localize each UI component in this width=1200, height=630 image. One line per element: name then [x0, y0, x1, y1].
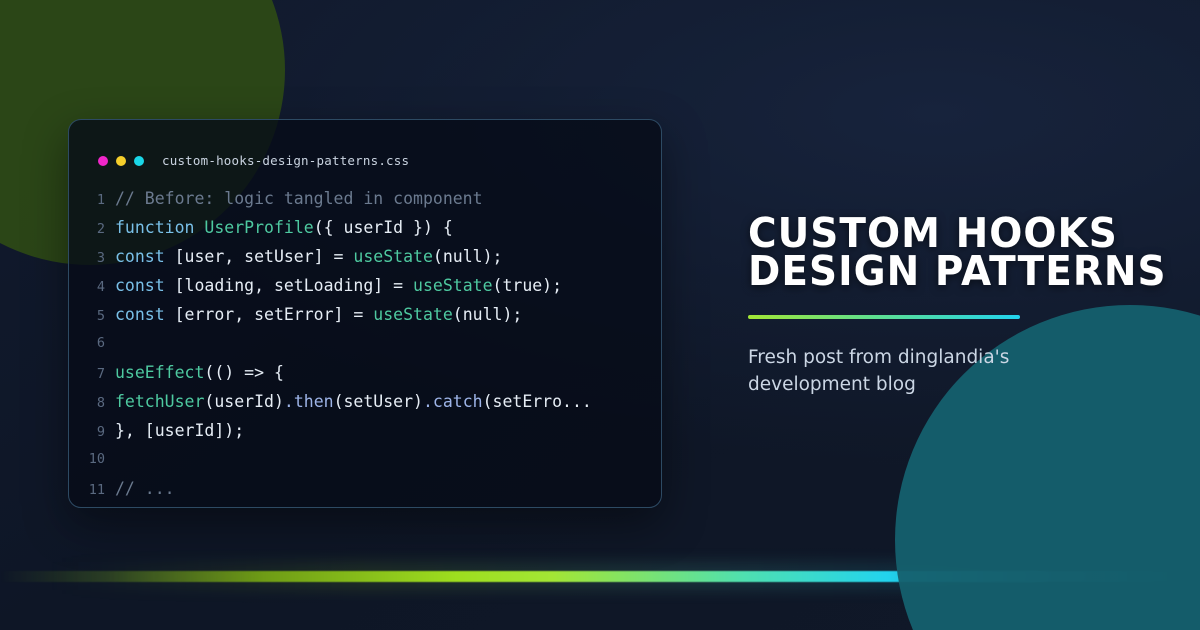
line-number: 7 [69, 360, 115, 389]
line-number: 6 [69, 329, 115, 358]
line-number: 2 [69, 215, 115, 244]
code-filename-label: custom-hooks-design-patterns.css [162, 153, 409, 168]
code-line: 8 fetchUser(userId).then(setUser).catch(… [69, 387, 661, 416]
code-line: 4 const [loading, setLoading] = useState… [69, 271, 661, 300]
code-token: [loading, setLoading] = [165, 276, 413, 295]
line-code: fetchUser(userId).then(setUser).catch(se… [115, 387, 661, 416]
code-editor-body[interactable]: 1 // Before: logic tangled in component2… [69, 176, 661, 503]
code-token: [user, setUser] = [165, 247, 354, 266]
code-token: const [115, 276, 165, 295]
line-code: useEffect(() => { [115, 358, 661, 387]
code-line: 3 const [user, setUser] = useState(null)… [69, 242, 661, 271]
code-line: 9 }, [userId]); [69, 416, 661, 445]
code-token: (setErro... [483, 392, 592, 411]
line-code: const [loading, setLoading] = useState(t… [115, 271, 661, 300]
title-divider [748, 315, 1020, 319]
page-subtitle: Fresh post from dinglandia's development… [748, 344, 1038, 398]
code-line: 6 [69, 329, 661, 358]
close-dot[interactable] [98, 156, 108, 166]
line-number: 5 [69, 302, 115, 331]
code-token: useState [413, 276, 492, 295]
line-number: 10 [69, 445, 115, 474]
line-code: // ... [115, 474, 661, 503]
page-title-line-2: Design Patterns [748, 252, 1128, 290]
code-token: .then [284, 392, 334, 411]
line-number: 11 [69, 476, 115, 505]
code-token: [error, setError] = [165, 305, 374, 324]
code-token: (null); [433, 247, 503, 266]
code-token: (userId) [204, 392, 283, 411]
code-line: 10 [69, 445, 661, 474]
code-token: (() => { [204, 363, 283, 382]
code-token: useState [353, 247, 432, 266]
code-token: }, [userId]); [115, 421, 244, 440]
code-token: (true); [493, 276, 563, 295]
page-title: Custom Hooks Design Patterns [748, 214, 1128, 290]
code-token: useState [373, 305, 452, 324]
line-code: // Before: logic tangled in component [115, 184, 661, 213]
code-line: 5 const [error, setError] = useState(nul… [69, 300, 661, 329]
line-code: const [user, setUser] = useState(null); [115, 242, 661, 271]
code-token: UserProfile [204, 218, 313, 237]
code-line: 2 function UserProfile({ userId }) { [69, 213, 661, 242]
code-token: (setUser) [334, 392, 423, 411]
code-token: fetchUser [115, 392, 204, 411]
code-line: 1 // Before: logic tangled in component [69, 184, 661, 213]
line-code: function UserProfile({ userId }) { [115, 213, 661, 242]
line-number: 3 [69, 244, 115, 273]
code-token: ({ userId }) { [314, 218, 453, 237]
line-number: 8 [69, 389, 115, 418]
code-token: // ... [115, 479, 175, 498]
line-number: 1 [69, 186, 115, 215]
line-number: 4 [69, 273, 115, 302]
code-line: 7 useEffect(() => { [69, 358, 661, 387]
code-token [194, 218, 204, 237]
zoom-dot[interactable] [134, 156, 144, 166]
code-line: 11 // ... [69, 474, 661, 503]
line-code: }, [userId]); [115, 416, 661, 445]
code-window: custom-hooks-design-patterns.css 1 // Be… [68, 119, 662, 508]
minimize-dot[interactable] [116, 156, 126, 166]
code-token: const [115, 247, 165, 266]
code-token: // Before: logic tangled in component [115, 189, 483, 208]
code-token: .catch [423, 392, 483, 411]
post-info-column: Custom Hooks Design Patterns Fresh post … [748, 214, 1148, 398]
code-window-titlebar: custom-hooks-design-patterns.css [69, 120, 661, 176]
line-number: 9 [69, 418, 115, 447]
code-token: useEffect [115, 363, 204, 382]
code-token: function [115, 218, 194, 237]
code-token: const [115, 305, 165, 324]
code-token: (null); [453, 305, 523, 324]
line-code: const [error, setError] = useState(null)… [115, 300, 661, 329]
